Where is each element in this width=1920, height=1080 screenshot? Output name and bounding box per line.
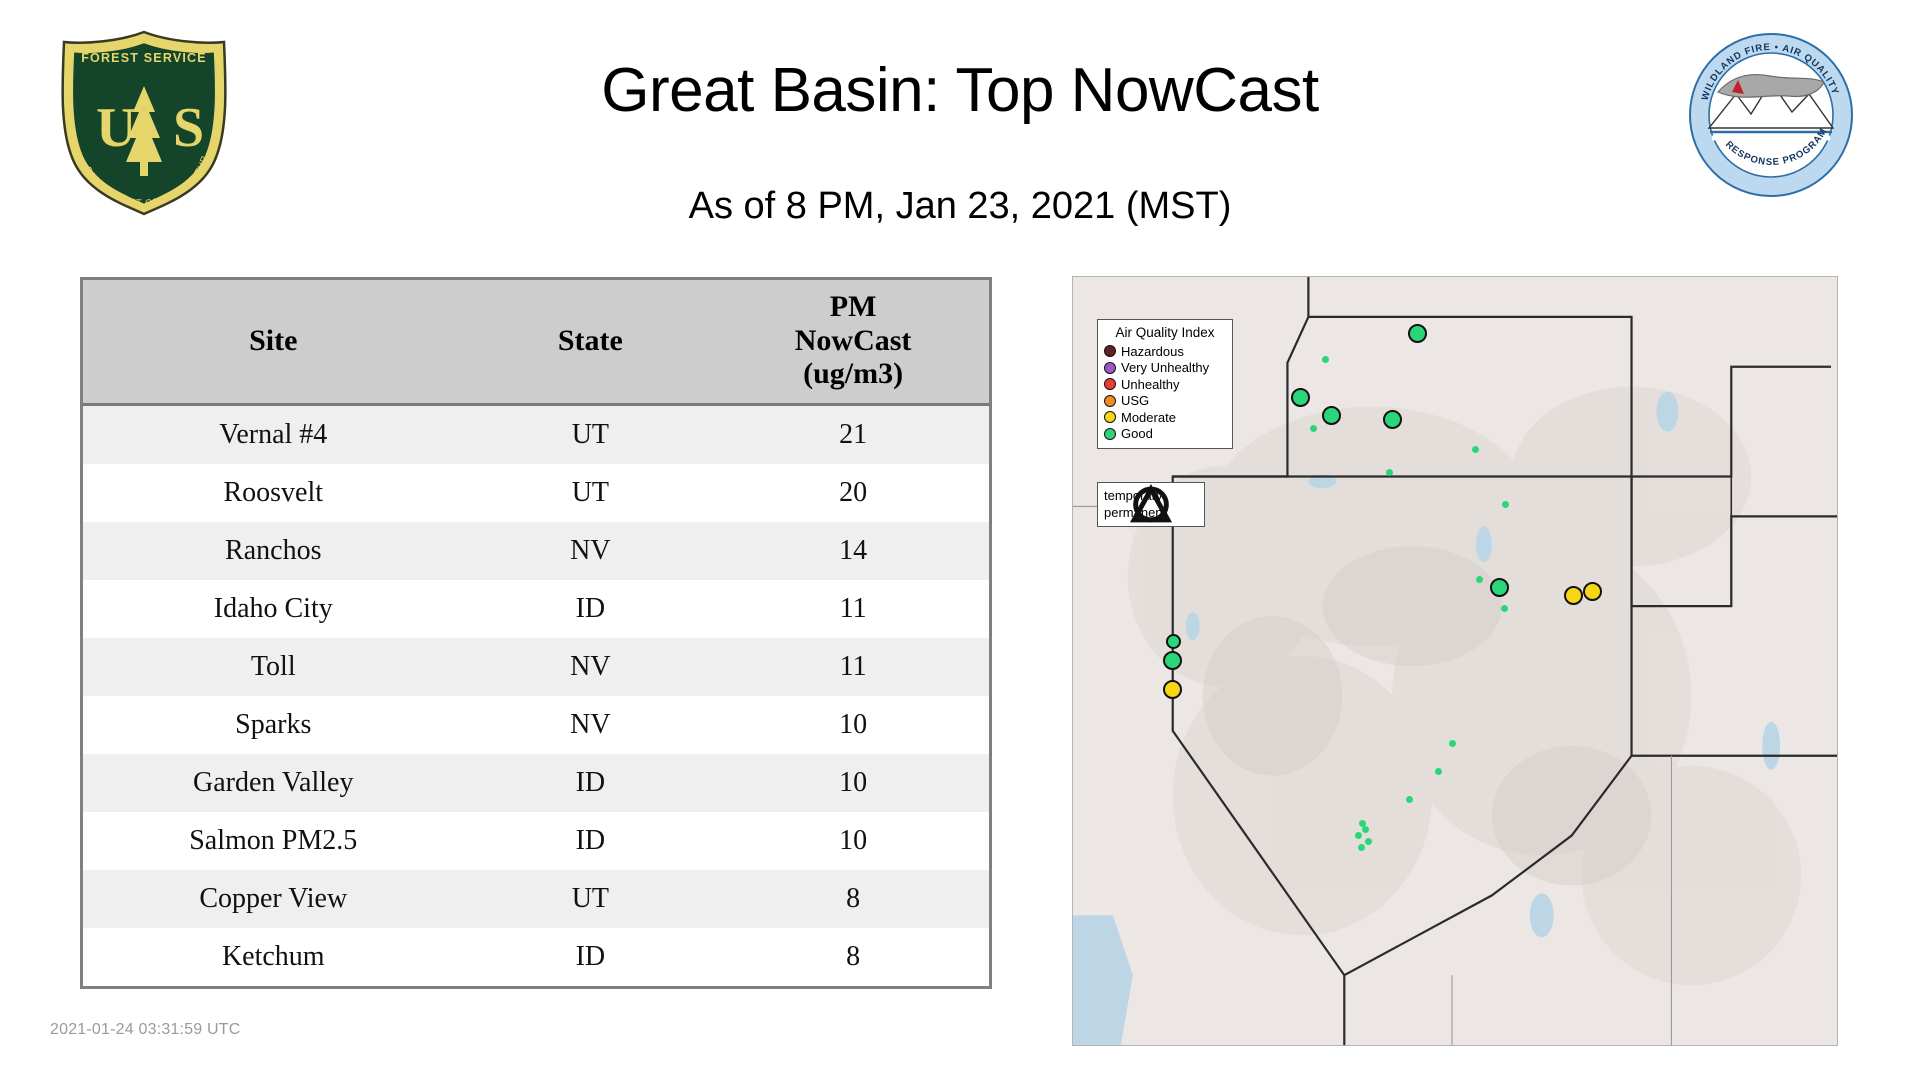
monitor-marker[interactable] (1163, 651, 1182, 670)
site-cell: Toll (83, 638, 464, 696)
monitor-marker[interactable] (1291, 388, 1310, 407)
aqi-legend-item: Moderate (1104, 409, 1226, 426)
site-cell: Copper View (83, 870, 464, 928)
state-cell: NV (464, 638, 718, 696)
monitor-marker[interactable] (1386, 469, 1393, 476)
monitor-marker[interactable] (1449, 740, 1456, 747)
site-cell: Salmon PM2.5 (83, 812, 464, 870)
aqi-legend-label: Hazardous (1121, 345, 1184, 358)
table-row: Garden ValleyID10 (83, 754, 989, 812)
aqi-color-swatch-icon (1104, 362, 1116, 374)
state-cell: ID (464, 580, 718, 638)
aqi-legend-label: Moderate (1121, 411, 1176, 424)
table-row: Vernal #4UT21 (83, 404, 989, 464)
monitor-marker[interactable] (1564, 586, 1583, 605)
table-body: Vernal #4UT21RoosveltUT20RanchosNV14Idah… (83, 404, 989, 986)
top-nowcast-table-container: Site State PM NowCast (ug/m3) Vernal #4U… (80, 277, 992, 989)
state-cell: ID (464, 812, 718, 870)
pm-cell: 20 (717, 464, 989, 522)
monitor-marker[interactable] (1435, 768, 1442, 775)
column-header-pm-nowcast: PM NowCast (ug/m3) (717, 280, 989, 404)
monitor-marker[interactable] (1408, 324, 1427, 343)
table-row: RanchosNV14 (83, 522, 989, 580)
state-cell: ID (464, 754, 718, 812)
triangle-outline-icon (1098, 483, 1204, 526)
great-basin-map[interactable]: Air Quality Index HazardousVery Unhealth… (1072, 276, 1838, 1046)
monitor-marker[interactable] (1406, 796, 1413, 803)
table-row: KetchumID8 (83, 928, 989, 986)
aqi-color-swatch-icon (1104, 345, 1116, 357)
aqi-legend-item: Unhealthy (1104, 376, 1226, 393)
state-cell: NV (464, 696, 718, 754)
site-cell: Sparks (83, 696, 464, 754)
station-type-legend: temporary permanent (1097, 482, 1205, 527)
table-row: RoosveltUT20 (83, 464, 989, 522)
column-header-site: Site (83, 280, 464, 404)
aqi-legend-label: USG (1121, 394, 1149, 407)
aqi-legend-item: USG (1104, 393, 1226, 410)
pm-cell: 11 (717, 638, 989, 696)
site-cell: Vernal #4 (83, 404, 464, 464)
state-cell: UT (464, 404, 718, 464)
site-cell: Ranchos (83, 522, 464, 580)
monitor-marker[interactable] (1322, 406, 1341, 425)
pm-cell: 8 (717, 870, 989, 928)
monitor-marker[interactable] (1365, 838, 1372, 845)
state-cell: UT (464, 464, 718, 522)
aqi-color-swatch-icon (1104, 411, 1116, 423)
monitor-marker[interactable] (1310, 425, 1317, 432)
aqi-color-swatch-icon (1104, 378, 1116, 390)
aqi-legend-label: Very Unhealthy (1121, 361, 1209, 374)
pm-cell: 21 (717, 404, 989, 464)
aqi-legend-title: Air Quality Index (1104, 325, 1226, 340)
aqi-legend-label: Good (1121, 427, 1153, 440)
column-header-state: State (464, 280, 718, 404)
pm-cell: 14 (717, 522, 989, 580)
site-cell: Roosvelt (83, 464, 464, 522)
aqi-legend-item: Good (1104, 426, 1226, 443)
table-header: Site State PM NowCast (ug/m3) (83, 280, 989, 404)
page-title: Great Basin: Top NowCast (0, 58, 1920, 123)
aqi-legend: Air Quality Index HazardousVery Unhealth… (1097, 319, 1233, 449)
column-header-pm-line1: PM (721, 290, 985, 324)
page-subtitle: As of 8 PM, Jan 23, 2021 (MST) (0, 185, 1920, 228)
legend-item-permanent: permanent (1104, 504, 1198, 521)
table-row: TollNV11 (83, 638, 989, 696)
table-row: Idaho CityID11 (83, 580, 989, 638)
aqi-legend-label: Unhealthy (1121, 378, 1180, 391)
state-cell: UT (464, 870, 718, 928)
monitor-marker[interactable] (1383, 410, 1402, 429)
pm-cell: 11 (717, 580, 989, 638)
state-cell: NV (464, 522, 718, 580)
monitor-marker[interactable] (1583, 582, 1602, 601)
monitor-marker[interactable] (1490, 578, 1509, 597)
table-row: SparksNV10 (83, 696, 989, 754)
site-cell: Ketchum (83, 928, 464, 986)
pm-cell: 8 (717, 928, 989, 986)
table-header-row: Site State PM NowCast (ug/m3) (83, 280, 989, 404)
table-row: Copper ViewUT8 (83, 870, 989, 928)
slide-root: FOREST SERVICE U S DEPARTMENT OF AGRICUL… (0, 0, 1920, 1080)
aqi-legend-items: HazardousVery UnhealthyUnhealthyUSGModer… (1104, 343, 1226, 442)
monitor-marker[interactable] (1362, 826, 1369, 833)
site-cell: Idaho City (83, 580, 464, 638)
monitor-marker[interactable] (1166, 634, 1181, 649)
state-cell: ID (464, 928, 718, 986)
monitor-marker[interactable] (1358, 844, 1365, 851)
table-row: Salmon PM2.5ID10 (83, 812, 989, 870)
pm-cell: 10 (717, 696, 989, 754)
site-cell: Garden Valley (83, 754, 464, 812)
aqi-legend-item: Very Unhealthy (1104, 360, 1226, 377)
aqi-color-swatch-icon (1104, 428, 1116, 440)
monitor-marker[interactable] (1355, 832, 1362, 839)
top-nowcast-table: Site State PM NowCast (ug/m3) Vernal #4U… (83, 280, 989, 986)
pm-cell: 10 (717, 812, 989, 870)
pm-cell: 10 (717, 754, 989, 812)
aqi-legend-item: Hazardous (1104, 343, 1226, 360)
column-header-pm-line3: (ug/m3) (721, 357, 985, 391)
footer-timestamp: 2021-01-24 03:31:59 UTC (50, 1021, 241, 1039)
monitor-marker[interactable] (1501, 605, 1508, 612)
aqi-color-swatch-icon (1104, 395, 1116, 407)
column-header-pm-line2: NowCast (721, 324, 985, 358)
